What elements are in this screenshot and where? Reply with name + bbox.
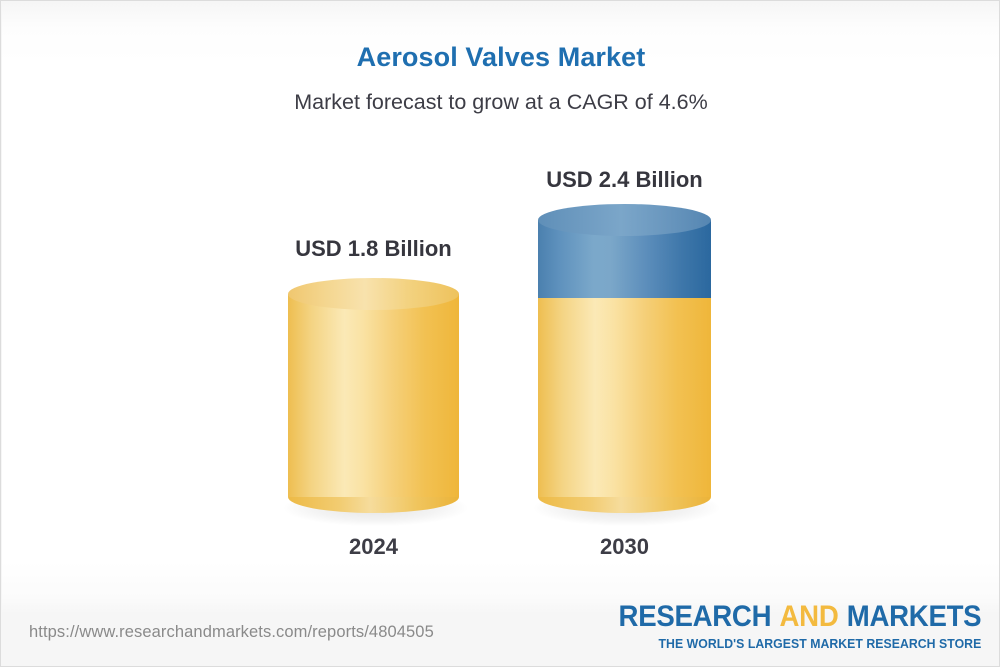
- logo-tagline: THE WORLD'S LARGEST MARKET RESEARCH STOR…: [614, 636, 981, 651]
- research-and-markets-logo[interactable]: RESEARCHANDMARKETS THE WORLD'S LARGEST M…: [587, 602, 981, 651]
- bar-2024-body: [288, 294, 459, 497]
- bar-2030[interactable]: [538, 204, 711, 513]
- logo-word-markets: MARKETS: [846, 600, 981, 633]
- chart-subtitle: Market forecast to grow at a CAGR of 4.6…: [1, 90, 1000, 115]
- logo-word-research: RESEARCH: [618, 600, 771, 633]
- chart-canvas: Aerosol Valves Market Market forecast to…: [0, 0, 1000, 667]
- bar-2024-top-cap: [288, 278, 459, 310]
- category-label-2030: 2030: [535, 534, 714, 560]
- bar-2024[interactable]: [288, 278, 459, 513]
- value-label-2024: USD 1.8 Billion: [274, 236, 473, 262]
- bar-2030-top-cap: [538, 204, 711, 236]
- logo-word-and: AND: [779, 600, 838, 633]
- chart-title: Aerosol Valves Market: [1, 42, 1000, 73]
- source-url[interactable]: https://www.researchandmarkets.com/repor…: [29, 623, 434, 642]
- category-label-2024: 2024: [284, 534, 463, 560]
- logo-wordmark: RESEARCHANDMARKETS: [618, 602, 981, 632]
- bar-2030-base-body: [538, 296, 711, 497]
- value-label-2030: USD 2.4 Billion: [525, 167, 724, 193]
